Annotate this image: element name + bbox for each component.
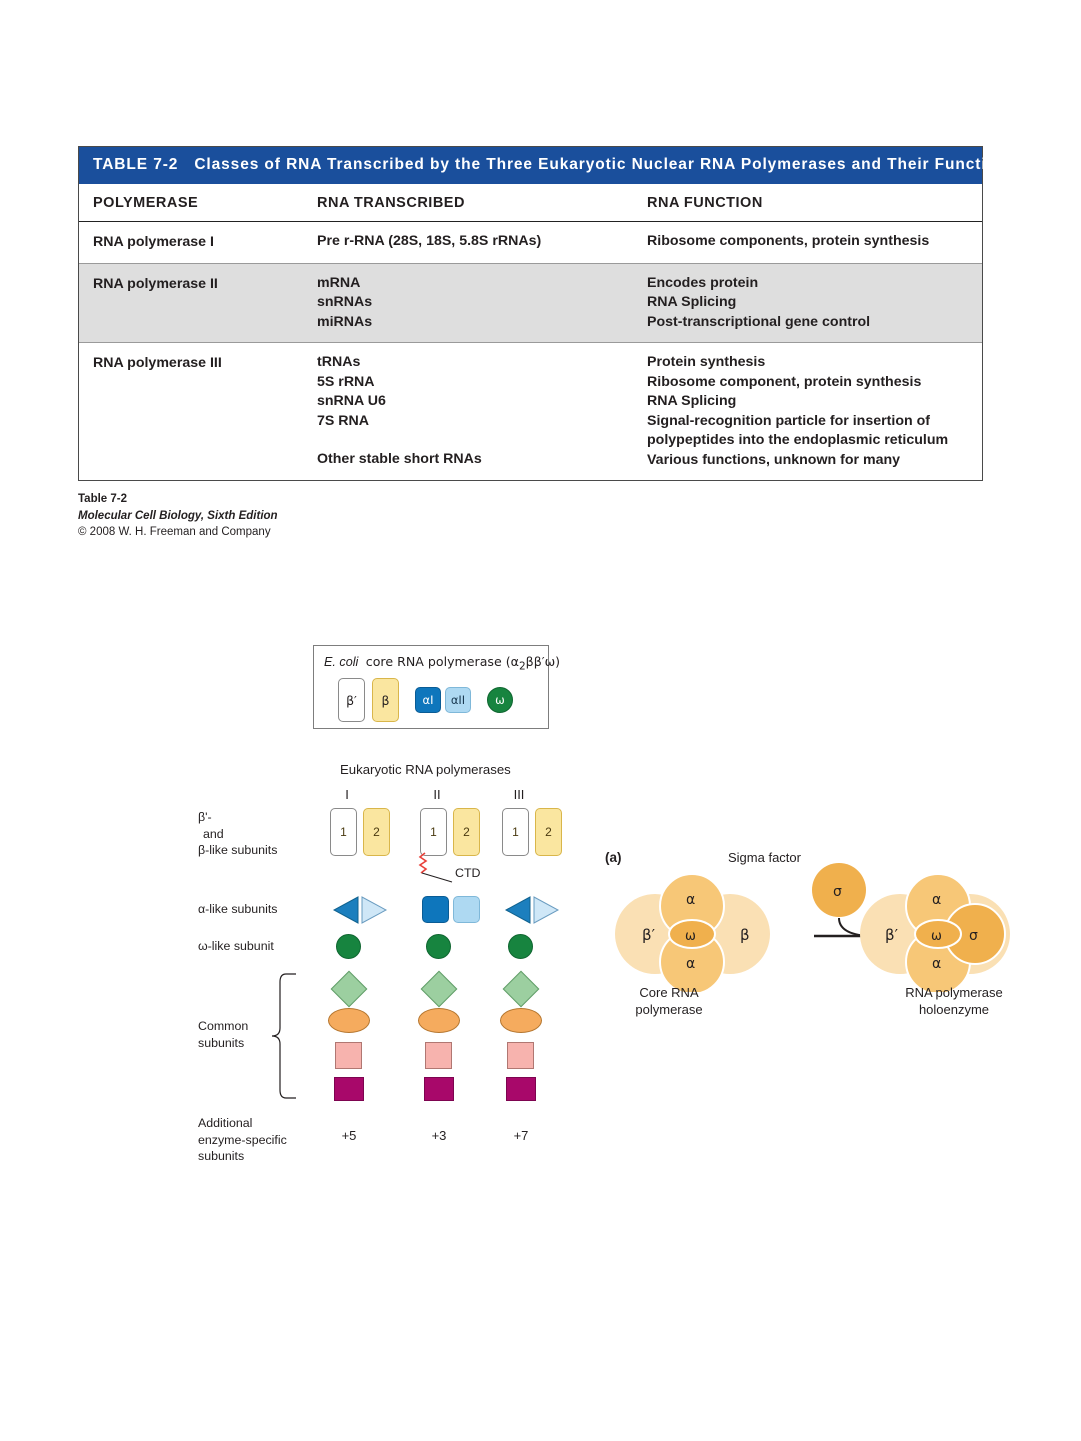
beta-like-box-2: 2 [363, 808, 390, 856]
common-subunits-bracket [268, 972, 298, 1100]
polymerase-numeral-III: III [499, 787, 539, 802]
common-subunit-magenta-rect-pol-I [334, 1077, 364, 1101]
transcribed-item: 7S RNA [317, 412, 647, 432]
function-item: RNA Splicing [647, 392, 982, 412]
cell-rna-transcribed: Pre r-RNA (28S, 18S, 5.8S rRNAs) [317, 232, 647, 253]
omega-like-circle-pol-I [336, 934, 361, 959]
ecoli-title-rest: core RNA polymerase (α2ββ′ω) [362, 654, 560, 669]
row-label-alpha-like-subunits: α-like subunits [198, 901, 277, 918]
caption-book-title: Molecular Cell Biology, Sixth Edition [78, 508, 278, 525]
beta-like-box-2: 2 [535, 808, 562, 856]
function-item: Signal-recognition particle for insertio… [647, 412, 982, 451]
ctd-label: CTD [455, 866, 480, 880]
omega-like-circle-pol-III [508, 934, 533, 959]
common-subunit-ellipse-pol-II [418, 1008, 460, 1033]
function-item: Post-transcriptional gene control [647, 313, 982, 333]
cell-rna-transcribed: mRNA snRNAs miRNAs [317, 274, 647, 333]
function-item: Ribosome components, protein synthesis [647, 232, 982, 252]
common-subunit-pink-square-pol-I [335, 1042, 362, 1069]
common-subunit-ellipse-pol-III [500, 1008, 542, 1033]
additional-count-pol-III: +7 [501, 1128, 541, 1143]
svg-text:α: α [932, 892, 941, 908]
table-title-text: Classes of RNA Transcribed by the Three … [194, 156, 1017, 173]
beta-like-box-1: 1 [330, 808, 357, 856]
polymerase-numeral-II: II [417, 787, 457, 802]
core-rna-polymerase-complex: β′ β α α ω [615, 874, 770, 992]
column-header-rna-function: RNA FUNCTION [647, 195, 982, 211]
svg-text:α: α [686, 956, 695, 972]
transcribed-item: snRNA U6 [317, 392, 647, 412]
core-polymerase-caption: Core RNA polymerase [609, 984, 729, 1018]
beta-label-line-3: β-like subunits [198, 842, 277, 859]
alpha-like-squares-pol-II [422, 896, 480, 923]
common-subunit-magenta-rect-pol-II [424, 1077, 454, 1101]
svg-text:α: α [932, 956, 941, 972]
row-label-additional-subunits: Additional enzyme-specific subunits [198, 1115, 287, 1165]
cell-rna-function: Protein synthesis Ribosome component, pr… [647, 353, 982, 470]
sigma-factor-circle: σ [812, 863, 866, 917]
svg-text:σ: σ [833, 884, 842, 900]
ecoli-core-polymerase-box: E. coli core RNA polymerase (α2ββ′ω) β′ … [313, 645, 549, 729]
beta-label-line-1: β'- [198, 809, 277, 826]
transcribed-item: mRNA [317, 274, 647, 294]
table-source-caption: Table 7-2 Molecular Cell Biology, Sixth … [78, 491, 278, 541]
transcribed-item: snRNAs [317, 293, 647, 313]
core-caption-line-1: Core RNA [609, 984, 729, 1001]
common-subunit-pink-square-pol-II [425, 1042, 452, 1069]
ecoli-subunit-row: β′ β αI αII ω [338, 678, 513, 722]
transcribed-item: tRNAs [317, 353, 647, 373]
beta-like-box-1: 1 [420, 808, 447, 856]
row-label-omega-like-subunit: ω-like subunit [198, 938, 274, 955]
table-header-row: POLYMERASE RNA TRANSCRIBED RNA FUNCTION [79, 184, 982, 222]
table-row: RNA polymerase III tRNAs 5S rRNA snRNA U… [79, 343, 982, 480]
common-subunit-ellipse-pol-I [328, 1008, 370, 1033]
subunit-omega: ω [487, 687, 513, 713]
alpha-like-triangles-pol-I [332, 896, 394, 924]
table-row: RNA polymerase I Pre r-RNA (28S, 18S, 5.… [79, 222, 982, 264]
additional-label-line-3: subunits [198, 1148, 287, 1165]
svg-text:ω: ω [931, 929, 942, 944]
common-label-line-2: subunits [198, 1035, 248, 1052]
holoenzyme-caption: RNA polymerase holoenzyme [884, 984, 1024, 1018]
rna-polymerase-holoenzyme-complex: β′ α α ω σ [860, 874, 1010, 992]
function-item: RNA Splicing [647, 293, 982, 313]
alpha-like-triangles-pol-III [504, 896, 566, 924]
caption-copyright: © 2008 W. H. Freeman and Company [78, 524, 278, 541]
row-label-beta-like-subunits: β'- and β-like subunits [198, 809, 277, 859]
function-item: Protein synthesis [647, 353, 982, 373]
svg-text:β: β [740, 926, 750, 944]
beta-like-pair-pol-I: 1 2 [330, 808, 390, 856]
common-subunit-magenta-rect-pol-III [506, 1077, 536, 1101]
cell-polymerase: RNA polymerase II [79, 274, 317, 333]
subunit-beta: β [372, 678, 399, 722]
caption-table-number: Table 7-2 [78, 491, 278, 508]
transcribed-item: 5S rRNA [317, 373, 647, 393]
column-header-polymerase: POLYMERASE [79, 195, 317, 211]
cell-rna-function: Encodes protein RNA Splicing Post-transc… [647, 274, 982, 333]
beta-label-line-2: and [198, 826, 277, 843]
row-label-common-subunits: Common subunits [198, 1018, 248, 1051]
common-subunit-diamond-pol-II [421, 971, 458, 1008]
column-header-rna-transcribed: RNA TRANSCRIBED [317, 195, 647, 211]
svg-text:α: α [686, 892, 695, 908]
cell-rna-function: Ribosome components, protein synthesis [647, 232, 982, 253]
beta-like-box-2: 2 [453, 808, 480, 856]
table-7-2: TABLE 7-2Classes of RNA Transcribed by t… [78, 146, 983, 481]
subunit-alpha-I: αI [415, 687, 441, 713]
cell-polymerase: RNA polymerase III [79, 353, 317, 470]
svg-text:ω: ω [685, 929, 696, 944]
svg-text:σ: σ [969, 928, 978, 944]
holoenzyme-assembly-diagram: β′ β α α ω σ β′ α α ω σ [600, 862, 1040, 992]
holo-caption-line-2: holoenzyme [884, 1001, 1024, 1018]
common-subunit-pink-square-pol-III [507, 1042, 534, 1069]
svg-text:β′: β′ [642, 926, 656, 944]
table-row: RNA polymerase II mRNA snRNAs miRNAs Enc… [79, 264, 982, 344]
table-title-bar: TABLE 7-2Classes of RNA Transcribed by t… [79, 147, 982, 184]
cell-rna-transcribed: tRNAs 5S rRNA snRNA U6 7S RNA Other stab… [317, 353, 647, 470]
transcribed-item: Pre r-RNA (28S, 18S, 5.8S rRNAs) [317, 232, 647, 252]
omega-like-circle-pol-II [426, 934, 451, 959]
svg-text:β′: β′ [885, 926, 899, 944]
transcribed-item: miRNAs [317, 313, 647, 333]
function-item: Encodes protein [647, 274, 982, 294]
ecoli-species-name: E. coli [324, 655, 358, 669]
polymerase-numeral-I: I [327, 787, 367, 802]
alpha-like-square-light [453, 896, 480, 923]
alpha-like-square-dark [422, 896, 449, 923]
beta-like-pair-pol-II: 1 2 [420, 808, 480, 856]
beta-like-box-1: 1 [502, 808, 529, 856]
beta-like-pair-pol-III: 1 2 [502, 808, 562, 856]
table-number: TABLE 7-2 [93, 156, 178, 173]
subunit-alpha-II: αII [445, 687, 471, 713]
transcribed-item: Other stable short RNAs [317, 450, 647, 470]
function-item: Ribosome component, protein synthesis [647, 373, 982, 393]
subunit-beta-prime: β′ [338, 678, 365, 722]
additional-count-pol-I: +5 [329, 1128, 369, 1143]
holo-caption-line-1: RNA polymerase [884, 984, 1024, 1001]
ecoli-box-title: E. coli core RNA polymerase (α2ββ′ω) [324, 654, 560, 673]
eukaryotic-diagram-title: Eukaryotic RNA polymerases [340, 762, 511, 777]
common-label-line-1: Common [198, 1018, 248, 1035]
core-caption-line-2: polymerase [609, 1001, 729, 1018]
additional-count-pol-II: +3 [419, 1128, 459, 1143]
additional-label-line-1: Additional [198, 1115, 287, 1132]
common-subunit-diamond-pol-I [331, 971, 368, 1008]
cell-polymerase: RNA polymerase I [79, 232, 317, 253]
function-item: Various functions, unknown for many [647, 451, 982, 471]
additional-label-line-2: enzyme-specific [198, 1132, 287, 1149]
common-subunit-diamond-pol-III [503, 971, 540, 1008]
